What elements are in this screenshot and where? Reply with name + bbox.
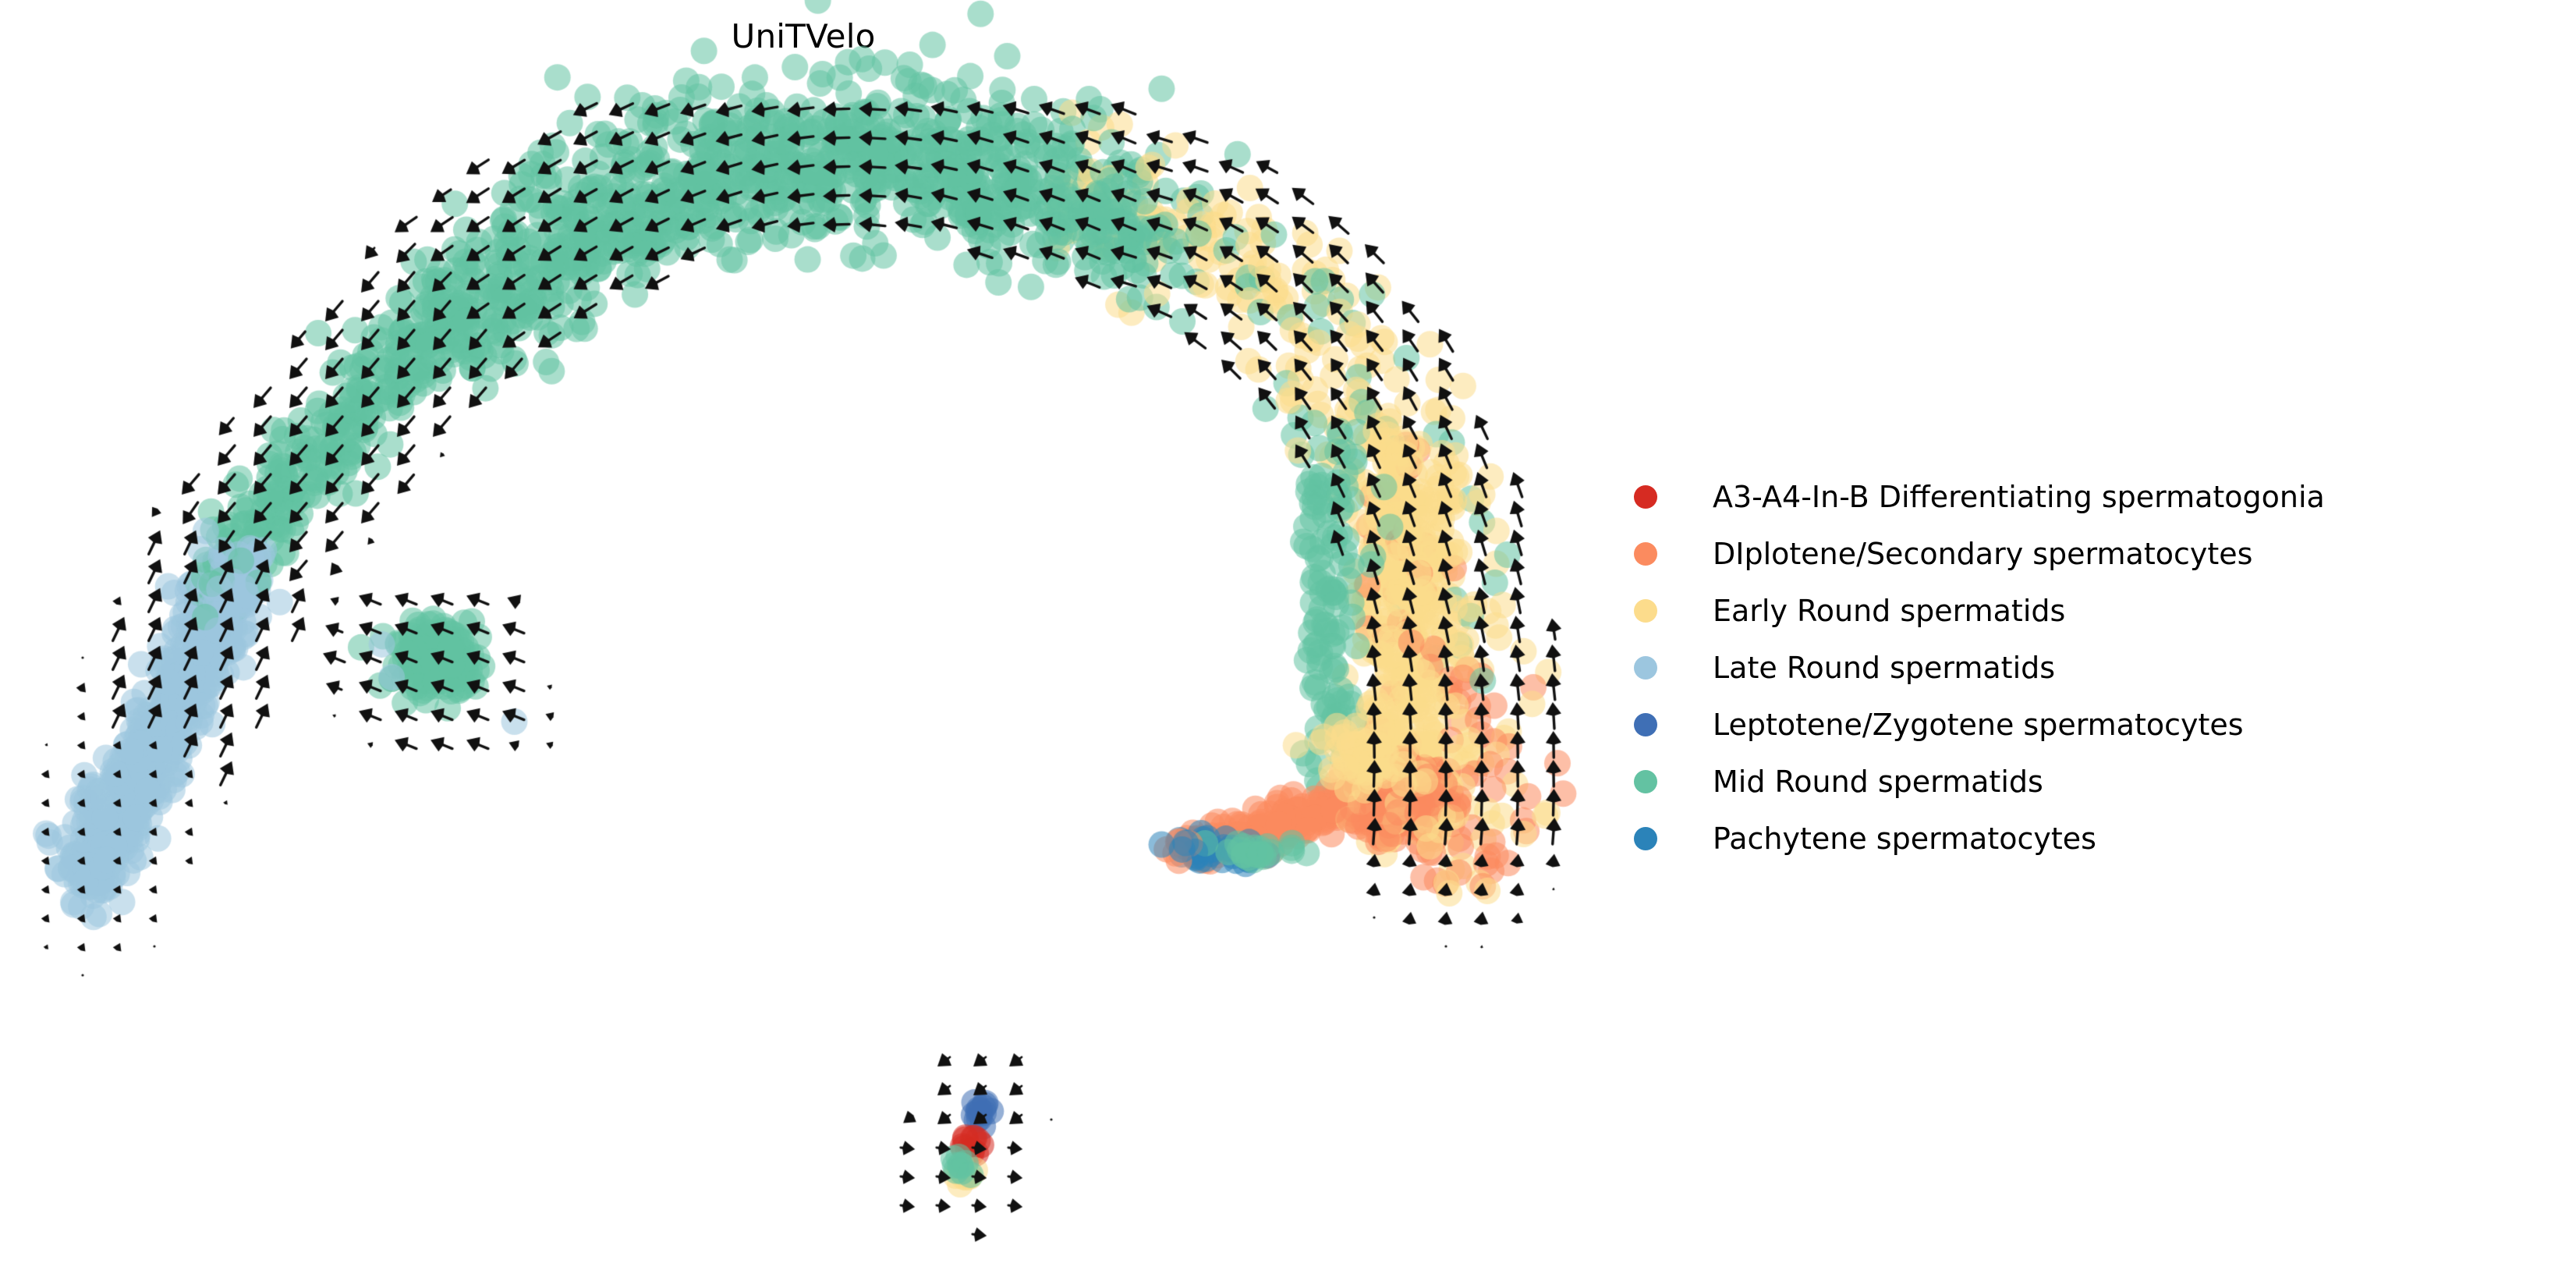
legend-item-label: DIplotene/Secondary spermatocytes — [1713, 539, 2252, 569]
legend-item-label: Early Round spermatids — [1713, 596, 2065, 626]
legend-item-0[interactable]: A3-A4-In-B Differentiating spermatogonia — [1622, 468, 2566, 525]
velocity-figure: UniTVelo A3-A4-In-B Differentiating sper… — [0, 0, 2576, 1274]
legend-marker-icon — [1634, 770, 1657, 793]
legend: A3-A4-In-B Differentiating spermatogonia… — [1622, 468, 2566, 867]
legend-marker-icon — [1634, 656, 1657, 680]
legend-item-1[interactable]: DIplotene/Secondary spermatocytes — [1622, 525, 2566, 582]
legend-marker-icon — [1634, 599, 1657, 623]
legend-marker-icon — [1634, 542, 1657, 566]
legend-item-4[interactable]: Leptotene/Zygotene spermatocytes — [1622, 696, 2566, 753]
legend-item-6[interactable]: Pachytene spermatocytes — [1622, 810, 2566, 867]
legend-marker-icon — [1634, 485, 1657, 509]
legend-item-label: Mid Round spermatids — [1713, 767, 2043, 797]
legend-item-2[interactable]: Early Round spermatids — [1622, 582, 2566, 639]
legend-item-3[interactable]: Late Round spermatids — [1622, 639, 2566, 696]
velocity-arrow-canvas — [0, 0, 1607, 1274]
legend-item-5[interactable]: Mid Round spermatids — [1622, 753, 2566, 810]
legend-item-label: Pachytene spermatocytes — [1713, 824, 2096, 853]
legend-item-label: A3-A4-In-B Differentiating spermatogonia — [1713, 482, 2325, 512]
legend-marker-icon — [1634, 713, 1657, 736]
legend-marker-icon — [1634, 827, 1657, 850]
legend-item-label: Late Round spermatids — [1713, 653, 2055, 683]
legend-item-label: Leptotene/Zygotene spermatocytes — [1713, 710, 2244, 740]
